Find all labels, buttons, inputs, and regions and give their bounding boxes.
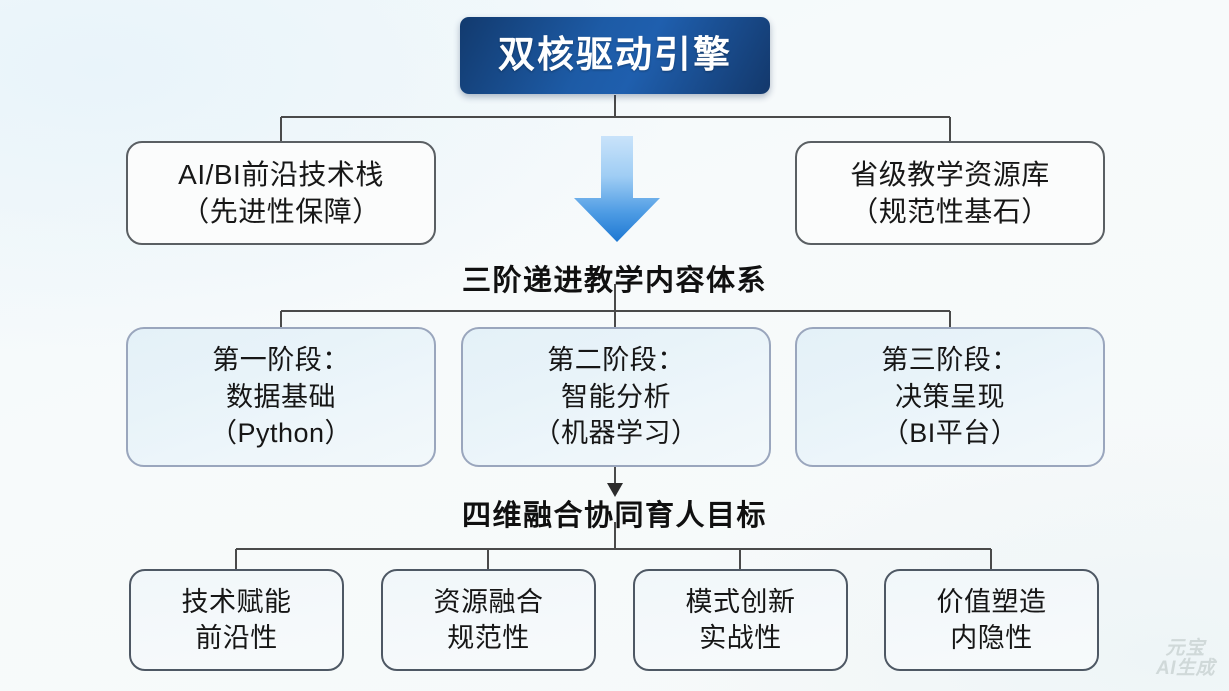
watermark: 元宝 AI生成 [1156,639,1215,679]
tech-stack-line1: AI/BI前沿技术栈 [178,156,384,193]
node-tech-stack[interactable]: AI/BI前沿技术栈 （先进性保障） [126,141,436,245]
title-label: 双核驱动引擎 [498,34,732,77]
outcome-tech-line1: 技术赋能 [182,584,292,620]
outcome-tech-line2: 前沿性 [195,620,278,656]
node-title[interactable]: 双核驱动引擎 [460,17,770,94]
outcome-value-line2: 内隐性 [950,620,1033,656]
outcome-model-line1: 模式创新 [686,584,796,620]
node-resource-base[interactable]: 省级教学资源库 （规范性基石） [795,141,1105,245]
node-outcome-resource[interactable]: 资源融合 规范性 [381,569,596,671]
stage-2-line2: 智能分析 [561,379,671,416]
outcome-value-line1: 价值塑造 [937,584,1047,620]
stage-1-line1: 第一阶段： [212,342,350,379]
stage-1-line3: （Python） [210,415,352,452]
node-outcome-model[interactable]: 模式创新 实战性 [633,569,848,671]
heading-stages: 三阶递进教学内容体系 [0,257,1229,299]
watermark-line2: AI生成 [1156,659,1215,679]
resource-base-line2: （规范性基石） [850,193,1050,230]
outcome-resource-line1: 资源融合 [434,584,544,620]
stage-1-line2: 数据基础 [226,379,336,416]
heading-outcomes: 四维融合协同育人目标 [0,492,1229,534]
diagram-canvas: 双核驱动引擎 AI/BI前沿技术栈 （先进性保障） 省级教学资源库 （规范性基石… [0,0,1229,691]
stage-3-line3: （BI平台） [882,415,1019,452]
outcome-resource-line2: 规范性 [447,620,530,656]
stage-3-line1: 第三阶段： [881,342,1019,379]
tech-stack-line2: （先进性保障） [181,193,381,230]
stage-3-line2: 决策呈现 [895,379,1005,416]
down-arrow-icon [568,134,666,244]
node-stage-1[interactable]: 第一阶段： 数据基础 （Python） [126,327,436,467]
stage-2-line3: （机器学习） [534,415,699,452]
node-stage-2[interactable]: 第二阶段： 智能分析 （机器学习） [461,327,771,467]
resource-base-line1: 省级教学资源库 [850,156,1050,193]
node-outcome-tech[interactable]: 技术赋能 前沿性 [129,569,344,671]
node-outcome-value[interactable]: 价值塑造 内隐性 [884,569,1099,671]
stage-2-line1: 第二阶段： [547,342,685,379]
outcome-model-line2: 实战性 [699,620,782,656]
node-stage-3[interactable]: 第三阶段： 决策呈现 （BI平台） [795,327,1105,467]
watermark-line1: 元宝 [1156,639,1215,659]
